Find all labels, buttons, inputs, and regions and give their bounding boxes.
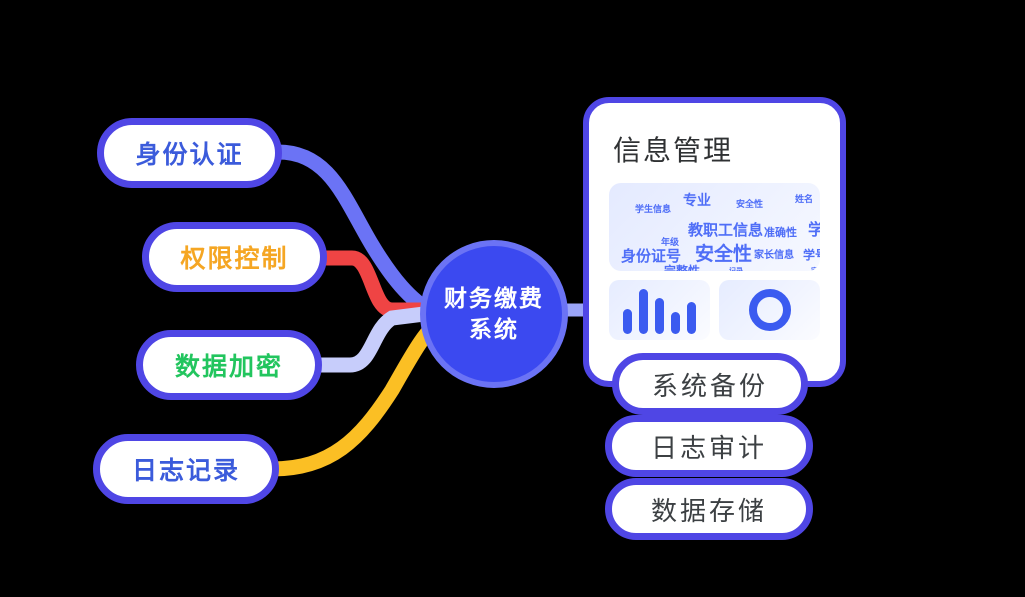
word-cloud-term: 学号 — [808, 223, 820, 239]
node-data-storage[interactable]: 数据存储 — [605, 478, 813, 540]
word-cloud-term: 家长 — [811, 268, 820, 271]
word-cloud-term: 身份证号 — [621, 249, 681, 264]
word-cloud-term: 安全性 — [736, 200, 763, 209]
word-cloud-term: 教职工信息 — [688, 223, 763, 238]
donut-ring — [749, 289, 791, 331]
word-cloud-term: 完整性 — [664, 265, 700, 271]
diagram-canvas: 身份认证 权限控制 数据加密 日志记录 财务缴费 系统 信息管理 学生信息专业安… — [0, 0, 1025, 597]
node-identity-auth[interactable]: 身份认证 — [97, 118, 282, 188]
bar — [671, 312, 680, 334]
bar — [639, 289, 648, 334]
node-label: 身份认证 — [135, 135, 243, 171]
node-system-backup[interactable]: 系统备份 — [612, 353, 808, 415]
word-cloud-term: 专业 — [683, 193, 711, 207]
hub-label-line2: 系统 — [469, 314, 519, 345]
bar-chart — [623, 286, 696, 340]
node-label: 系统备份 — [652, 366, 768, 403]
word-cloud-term: 准确性 — [764, 228, 797, 239]
hub-label-line1: 财务缴费 — [444, 283, 544, 314]
node-label: 日志记录 — [132, 451, 240, 487]
word-cloud: 学生信息专业安全性姓名教职工信息准确性学号年级身份证号安全性家长信息学号完整性记… — [609, 183, 820, 271]
bar — [655, 298, 664, 334]
donut-chart-panel[interactable] — [719, 280, 820, 340]
node-label: 日志审计 — [651, 428, 767, 465]
card-title: 信息管理 — [613, 129, 820, 169]
word-cloud-term: 学号 — [803, 249, 820, 261]
node-log-record[interactable]: 日志记录 — [93, 434, 279, 504]
word-cloud-term: 姓名 — [795, 195, 813, 204]
bar-chart-panel[interactable] — [609, 280, 710, 340]
node-label: 数据存储 — [651, 491, 767, 528]
bar — [687, 302, 696, 334]
bar — [623, 309, 632, 334]
word-cloud-term: 学生信息 — [635, 205, 671, 214]
word-cloud-term: 年级 — [661, 238, 679, 247]
word-cloud-term: 家长信息 — [754, 251, 794, 261]
node-center-finance-system[interactable]: 财务缴费 系统 — [420, 240, 568, 388]
node-label: 数据加密 — [175, 347, 283, 383]
node-data-encryption[interactable]: 数据加密 — [136, 330, 322, 400]
donut-chart — [749, 280, 791, 340]
word-cloud-term: 记录 — [729, 268, 743, 271]
node-label: 权限控制 — [180, 239, 288, 275]
word-cloud-term: 安全性 — [695, 245, 752, 264]
node-log-audit[interactable]: 日志审计 — [605, 415, 813, 477]
node-permission-control[interactable]: 权限控制 — [142, 222, 327, 292]
chart-row — [609, 280, 820, 340]
panel-information-management: 信息管理 学生信息专业安全性姓名教职工信息准确性学号年级身份证号安全性家长信息学… — [583, 97, 846, 387]
